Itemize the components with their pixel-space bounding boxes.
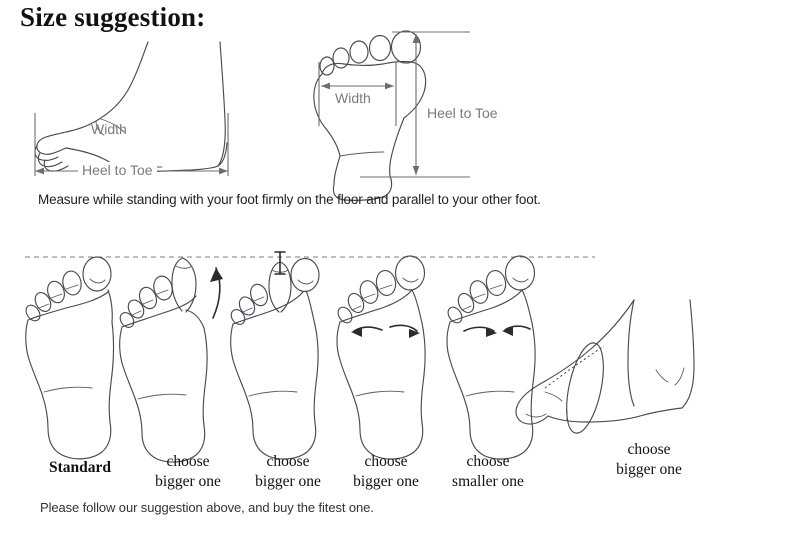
caption-line2: bigger one (616, 461, 682, 478)
caption-line1: choose (466, 453, 509, 470)
caption-line1: choose (266, 453, 309, 470)
size-suggestion-page: Size suggestion: Width (0, 0, 790, 533)
caption-foot-narrow-inward: choose smaller one (426, 452, 550, 492)
foot-narrow-inward-shape (445, 256, 535, 459)
caption-line2: bigger one (255, 473, 321, 490)
caption-line2: bigger one (155, 473, 221, 490)
foot-tall-second-toe-shape (228, 252, 319, 459)
foot-standard-shape (23, 257, 113, 459)
caption-line1: choose (364, 453, 407, 470)
caption-line2: bigger one (353, 473, 419, 490)
caption-line1: Standard (49, 459, 111, 476)
caption-line2: smaller one (452, 473, 524, 490)
caption-foot-standard: Standard (20, 458, 140, 478)
caption-foot-high-instep: choose bigger one (588, 440, 710, 480)
foot-high-instep-shape (516, 300, 694, 436)
footer-note: Please follow our suggestion above, and … (40, 500, 374, 515)
caption-line1: choose (627, 441, 670, 458)
caption-line1: choose (166, 453, 209, 470)
foot-wide-outward-shape (335, 256, 425, 459)
foot-long-toe-shape (117, 258, 223, 462)
